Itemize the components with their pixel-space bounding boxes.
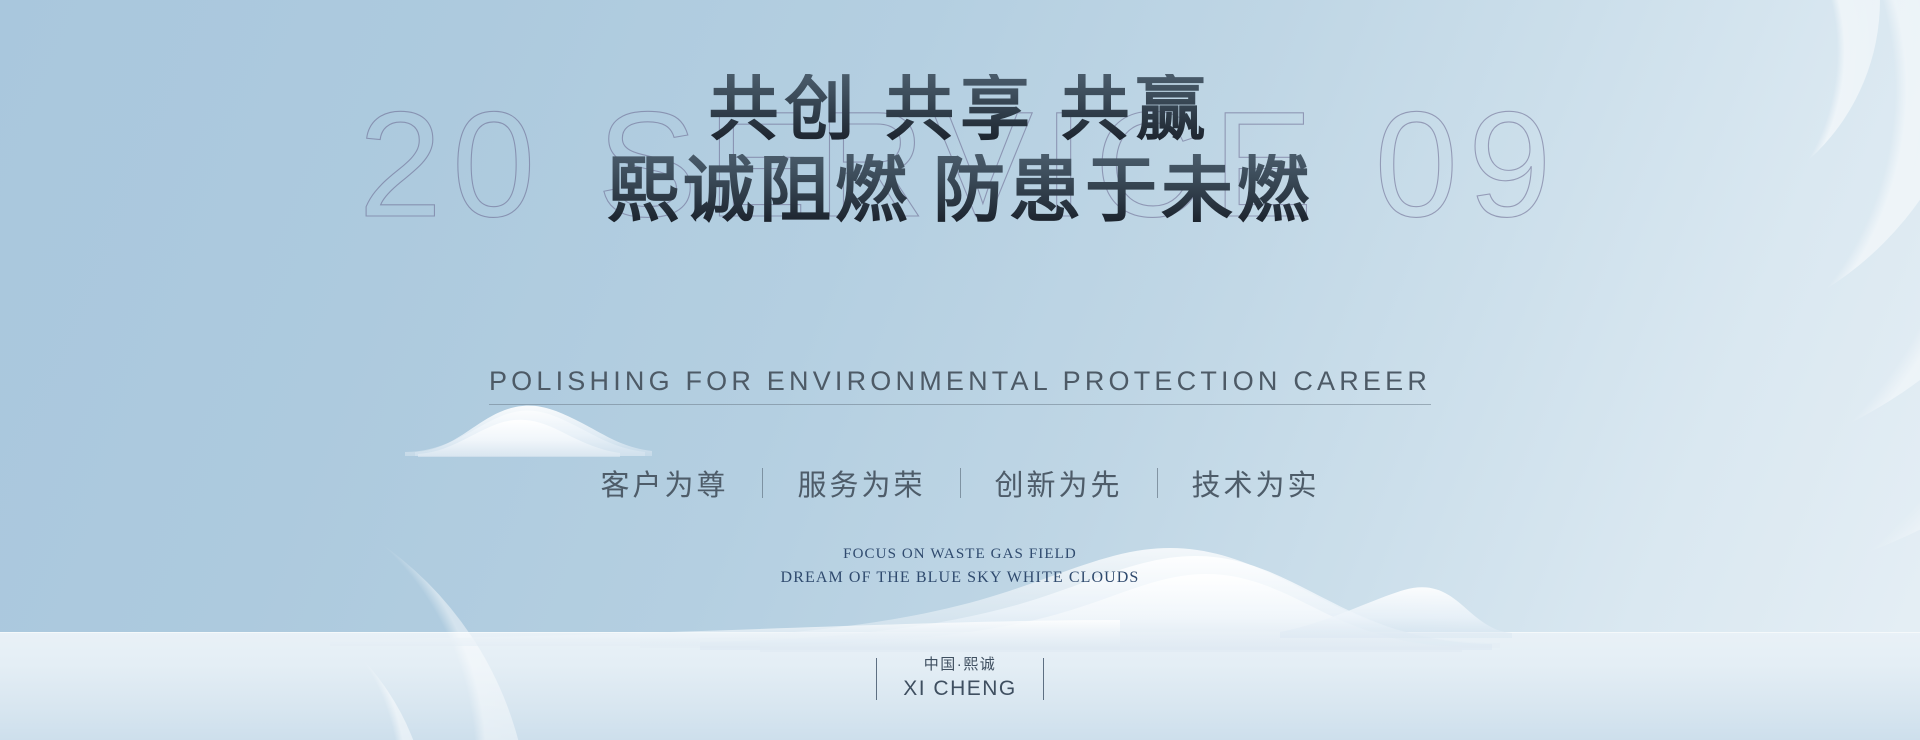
headline-block: 共创 共享 共赢 熙诚阻燃 防患于未燃 [0, 74, 1920, 229]
banner-root: 20 SERVICE 09 共创 共享 共赢 熙诚阻燃 防患于未燃 POLISH… [0, 0, 1920, 740]
headline-line-1: 共创 共享 共赢 [0, 74, 1920, 148]
floor-horizon-line [0, 632, 1920, 633]
logo-chinese-name: 中国·熙诚 [903, 655, 1017, 675]
value-item-2: 服务为荣 [763, 462, 959, 504]
value-item-1: 客户为尊 [566, 462, 762, 504]
tagline-line-1: FOCUS ON WASTE GAS FIELD [0, 543, 1920, 566]
logo-left-bar-icon [876, 658, 878, 700]
tagline-block: FOCUS ON WASTE GAS FIELD DREAM OF THE BL… [0, 543, 1920, 590]
values-row: 客户为尊服务为荣创新为先技术为实 [0, 462, 1920, 504]
logo-english-name: XI CHENG [903, 675, 1017, 703]
tagline-line-2: DREAM OF THE BLUE SKY WHITE CLOUDS [0, 566, 1920, 590]
subtitle-block: POLISHING FOR ENVIRONMENTAL PROTECTION C… [0, 366, 1920, 405]
logo-text-block: 中国·熙诚 XI CHENG [903, 655, 1017, 704]
subtitle-text: POLISHING FOR ENVIRONMENTAL PROTECTION C… [489, 366, 1431, 405]
value-item-3: 创新为先 [961, 462, 1157, 504]
logo-right-bar-icon [1043, 658, 1045, 700]
headline-line-2: 熙诚阻燃 防患于未燃 [0, 154, 1920, 230]
value-item-4: 技术为实 [1158, 462, 1354, 504]
brand-logo: 中国·熙诚 XI CHENG [0, 655, 1920, 704]
